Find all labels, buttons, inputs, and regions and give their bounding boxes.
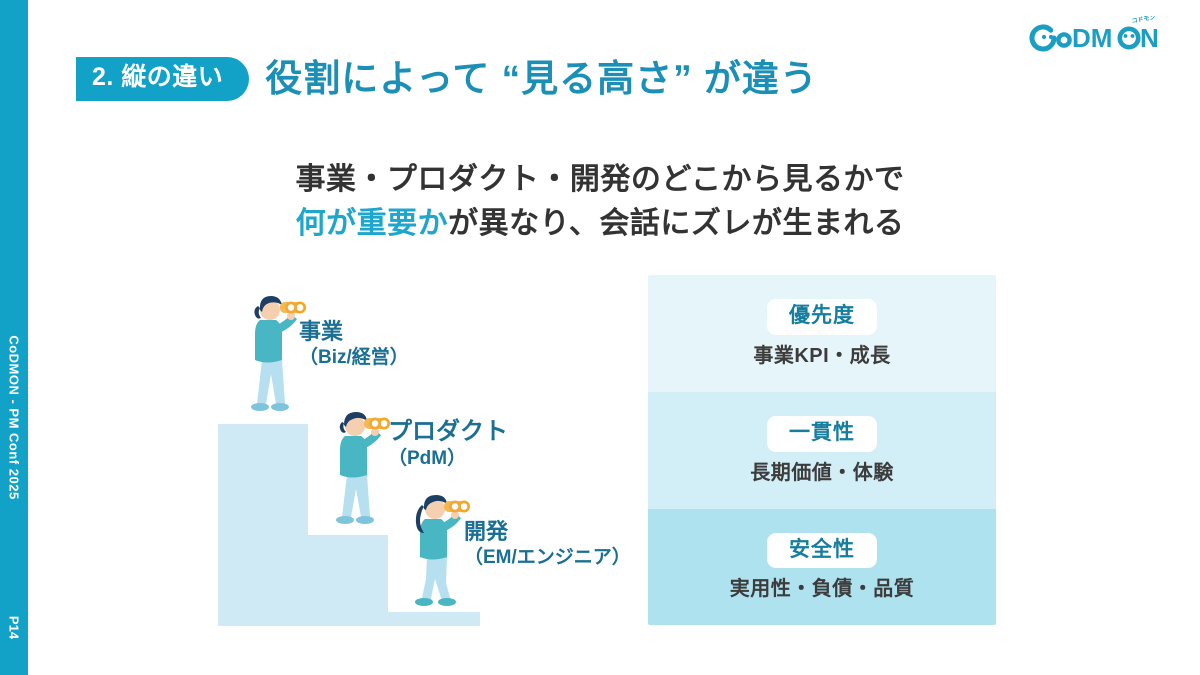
panel-band-consistency: 一貫性 長期価値・体験 — [648, 392, 996, 509]
role-label-product: プロダクト （PdM） — [388, 417, 508, 471]
band-pill-consistency: 一貫性 — [767, 416, 877, 451]
role-detail-business: （Biz/経営） — [299, 346, 409, 370]
sidebar-conference-label: CoDMON - PM Conf 2025 — [7, 335, 22, 499]
svg-text:DM: DM — [1072, 23, 1112, 53]
role-label-business: 事業 （Biz/経営） — [299, 318, 409, 369]
codmon-logo: コドモン DM N — [1028, 18, 1178, 54]
role-name-product: プロダクト — [388, 417, 508, 447]
subtitle-line-2-rest: が異なり、会話にズレが生まれる — [448, 207, 904, 240]
role-detail-product: （PdM） — [388, 447, 508, 471]
role-name-development: 開発 — [464, 518, 631, 546]
slide-root: CoDMON - PM Conf 2025 P14 コドモン DM N — [0, 0, 1200, 675]
sidebar-page-number: P14 — [7, 616, 22, 639]
slide-header: 2. 縦の違い 役割によって “見る高さ” が違う — [76, 57, 818, 101]
role-label-development: 開発 （EM/エンジニア） — [464, 518, 631, 569]
band-desc-safety: 実用性・負債・品質 — [730, 577, 915, 601]
band-pill-safety: 安全性 — [767, 533, 877, 568]
band-pill-priority: 優先度 — [767, 299, 877, 334]
subtitle-line-1: 事業・プロダクト・開発のどこから見るかで — [0, 158, 1200, 202]
role-detail-development: （EM/エンジニア） — [464, 546, 631, 570]
subtitle-block: 事業・プロダクト・開発のどこから見るかで 何が重要かが異なり、会話にズレが生まれ… — [0, 158, 1200, 245]
subtitle-line-2: 何が重要かが異なり、会話にズレが生まれる — [0, 202, 1200, 246]
stair-step-top — [218, 424, 308, 626]
panel-band-priority: 優先度 事業KPI・成長 — [648, 275, 996, 392]
band-desc-priority: 事業KPI・成長 — [753, 344, 890, 368]
stair-step-middle — [308, 535, 388, 626]
role-name-business: 事業 — [299, 318, 409, 346]
page-title: 役割によって “見る高さ” が違う — [265, 60, 818, 97]
panel-band-safety: 安全性 実用性・負債・品質 — [648, 509, 996, 625]
priority-panel: 優先度 事業KPI・成長 一貫性 長期価値・体験 安全性 実用性・負債・品質 — [648, 275, 996, 625]
chapter-badge: 2. 縦の違い — [76, 57, 249, 101]
band-desc-consistency: 長期価値・体験 — [750, 461, 894, 485]
svg-text:N: N — [1140, 23, 1159, 53]
subtitle-highlight: 何が重要か — [296, 207, 449, 240]
